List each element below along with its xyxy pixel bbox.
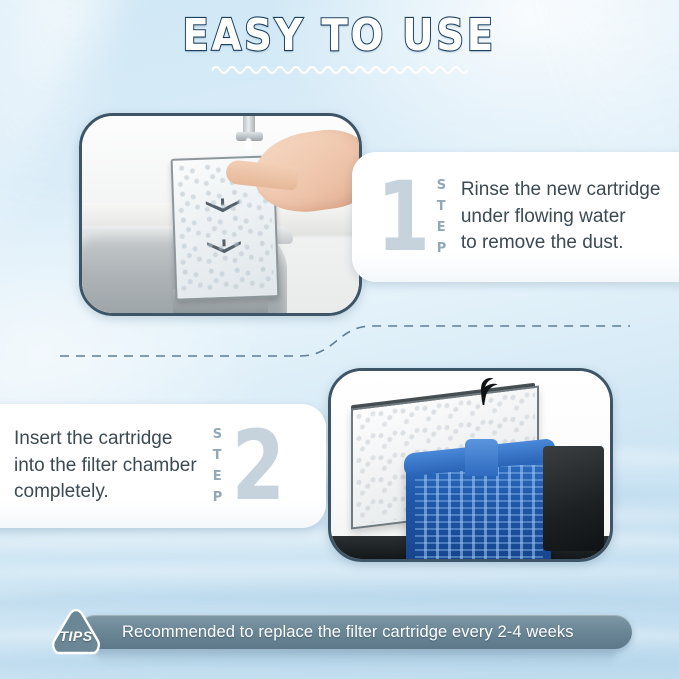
step-2-card: Insert the cartridge into the filter cha… xyxy=(0,404,326,528)
tips-badge-icon xyxy=(48,606,104,658)
page-title: EASY TO USE xyxy=(0,14,679,75)
step-2-number: 2 xyxy=(231,427,284,506)
step-2-word-letter-t: T xyxy=(213,445,223,466)
step-1-word-letter-s: S xyxy=(437,175,447,196)
step-1-word-letter-e: E xyxy=(437,217,447,238)
step-1-card: 1 S T E P Rinse the new cartridge under … xyxy=(352,152,679,282)
step-2-photo xyxy=(328,368,613,562)
step-1-body-text: Rinse the new cartridge under flowing wa… xyxy=(461,177,661,258)
step-2-word-letter-s: S xyxy=(213,424,223,445)
tips-message: Recommended to replace the filter cartri… xyxy=(122,623,574,642)
step-2-body-text: Insert the cartridge into the filter cha… xyxy=(14,426,197,507)
cartridge-logo-icon xyxy=(201,194,248,218)
step-2-word-letter-e: E xyxy=(213,466,223,487)
page-title-text: EASY TO USE xyxy=(183,14,496,58)
housing-body xyxy=(543,446,604,551)
step-1-word-letter-t: T xyxy=(437,196,447,217)
step-2-word-letter-p: P xyxy=(213,487,223,508)
step-1-word-letter-p: P xyxy=(437,238,447,259)
step-2-word: S T E P xyxy=(213,424,223,508)
infographic-poster: EASY TO USE xyxy=(0,0,679,679)
step-1-number: 1 xyxy=(377,178,430,257)
whale-tail-icon xyxy=(459,377,506,405)
tips-bar: Recommended to replace the filter cartri… xyxy=(78,615,632,649)
step-connector-line xyxy=(60,316,630,368)
cartridge-logo-secondary-icon xyxy=(203,236,250,260)
title-wave-icon xyxy=(212,63,468,75)
step-1-photo xyxy=(79,113,362,316)
tips-bar-reflection xyxy=(96,650,616,666)
step-1-word: S T E P xyxy=(437,175,447,259)
